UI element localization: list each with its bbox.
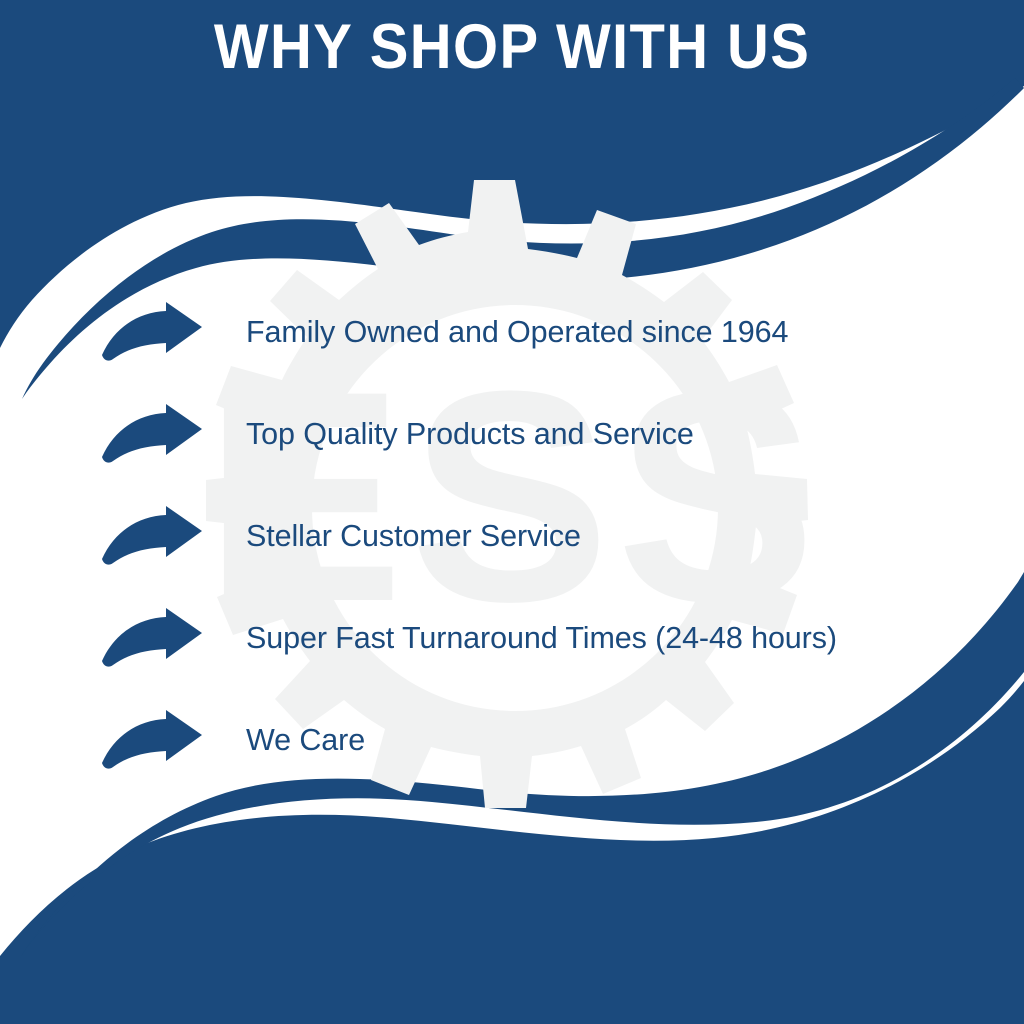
list-item: Top Quality Products and Service	[100, 384, 980, 486]
page-title: WHY SHOP WITH US	[214, 16, 810, 79]
benefit-label: Top Quality Products and Service	[246, 418, 694, 452]
benefit-label: Family Owned and Operated since 1964	[246, 316, 788, 350]
title-bar: WHY SHOP WITH US	[0, 0, 1024, 95]
curved-arrow-right-icon	[100, 506, 204, 568]
list-item: We Care	[100, 690, 980, 792]
curved-arrow-right-icon	[100, 302, 204, 364]
curved-arrow-right-icon	[100, 608, 204, 670]
why-shop-with-us-poster: ESS WHY SHOP WITH US Family Owned and Op…	[0, 0, 1024, 1024]
list-item: Super Fast Turnaround Times (24-48 hours…	[100, 588, 980, 690]
list-item: Stellar Customer Service	[100, 486, 980, 588]
benefit-label: Super Fast Turnaround Times (24-48 hours…	[246, 622, 837, 656]
benefit-label: We Care	[246, 724, 365, 758]
curved-arrow-right-icon	[100, 404, 204, 466]
benefits-list: Family Owned and Operated since 1964 Top…	[100, 282, 980, 792]
benefit-label: Stellar Customer Service	[246, 520, 581, 554]
curved-arrow-right-icon	[100, 710, 204, 772]
list-item: Family Owned and Operated since 1964	[100, 282, 980, 384]
